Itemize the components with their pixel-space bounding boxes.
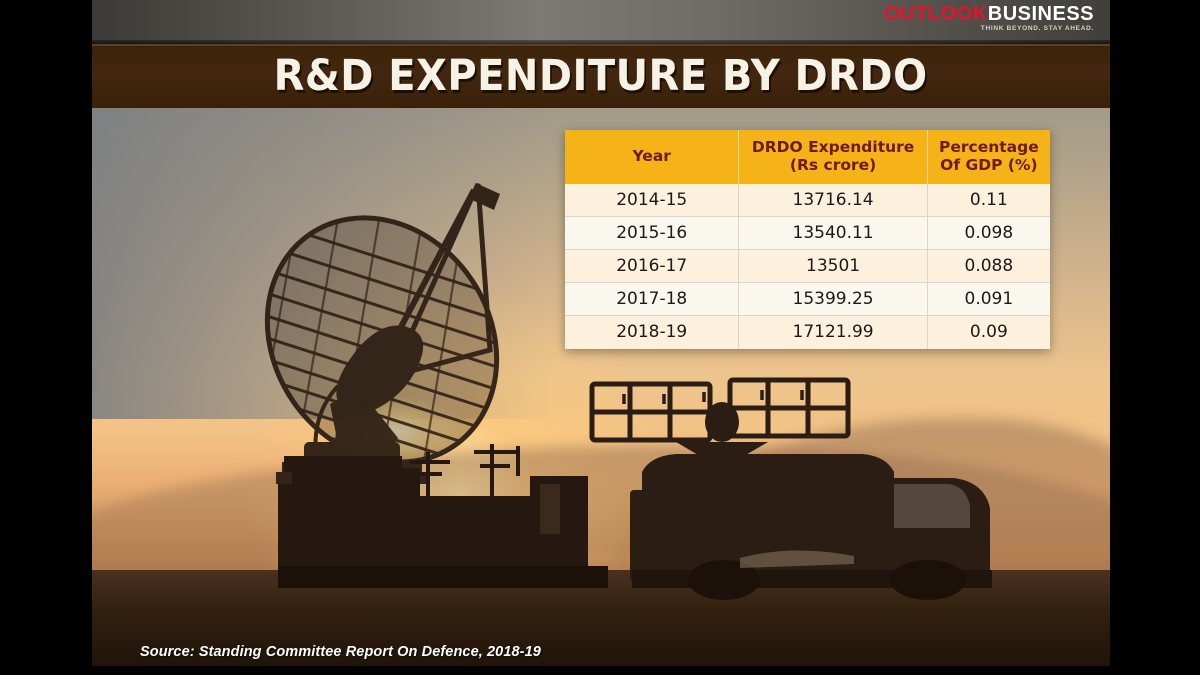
cell-year: 2018-19 <box>565 316 739 349</box>
header-line-1: DRDO Expenditure <box>752 138 914 156</box>
column-header-expenditure: DRDO Expenditure (Rs crore) <box>739 130 927 184</box>
cell-year: 2017-18 <box>565 283 739 316</box>
letterbox-bar-left <box>0 0 92 675</box>
letterbox-bar-right <box>1110 0 1200 675</box>
logo-outlook-text: OUTLOOK <box>884 3 988 25</box>
cell-year: 2014-15 <box>565 184 739 217</box>
data-table: Year DRDO Expenditure (Rs crore) Percent… <box>565 130 1050 349</box>
cell-year: 2015-16 <box>565 217 739 250</box>
page-title: R&D EXPENDITURE BY DRDO <box>274 51 928 101</box>
cell-year: 2016-17 <box>565 250 739 283</box>
header-line-2: Of GDP (%) <box>940 156 1037 174</box>
table-header-row: Year DRDO Expenditure (Rs crore) Percent… <box>565 130 1050 184</box>
cell-gdp-pct: 0.11 <box>927 184 1050 217</box>
table-head: Year DRDO Expenditure (Rs crore) Percent… <box>565 130 1050 184</box>
header-line-1: Year <box>633 147 671 165</box>
title-bar: R&D EXPENDITURE BY DRDO <box>92 44 1110 108</box>
brand-bar: OUTLOOKBUSINESS THINK BEYOND. STAY AHEAD… <box>92 0 1110 44</box>
table-row: 2015-16 13540.11 0.098 <box>565 217 1050 250</box>
source-text: Source: Standing Committee Report On Def… <box>140 644 541 660</box>
table-row: 2016-17 13501 0.088 <box>565 250 1050 283</box>
column-header-year: Year <box>565 130 739 184</box>
table-row: 2014-15 13716.14 0.11 <box>565 184 1050 217</box>
logo-tagline: THINK BEYOND. STAY AHEAD. <box>884 26 1094 33</box>
cell-gdp-pct: 0.098 <box>927 217 1050 250</box>
radar-equipment-shelter-silhouette <box>278 438 608 588</box>
table-row: 2017-18 15399.25 0.091 <box>565 283 1050 316</box>
logo-wordmark: OUTLOOKBUSINESS <box>884 4 1094 24</box>
logo-business-text: BUSINESS <box>988 3 1094 25</box>
source-bar: Source: Standing Committee Report On Def… <box>92 637 1110 666</box>
letterbox-bar-bottom <box>92 666 1110 675</box>
cell-expenditure: 17121.99 <box>739 316 927 349</box>
column-header-gdp-percentage: Percentage Of GDP (%) <box>927 130 1050 184</box>
cell-expenditure: 13540.11 <box>739 217 927 250</box>
cell-gdp-pct: 0.09 <box>927 316 1050 349</box>
table-row: 2018-19 17121.99 0.09 <box>565 316 1050 349</box>
cell-expenditure: 13501 <box>739 250 927 283</box>
table-body: 2014-15 13716.14 0.11 2015-16 13540.11 0… <box>565 184 1050 349</box>
drdo-expenditure-table: Year DRDO Expenditure (Rs crore) Percent… <box>565 130 1050 349</box>
header-line-1: Percentage <box>939 138 1039 156</box>
cell-expenditure: 15399.25 <box>739 283 927 316</box>
header-line-2: (Rs crore) <box>790 156 876 174</box>
cell-gdp-pct: 0.091 <box>927 283 1050 316</box>
outlook-business-logo: OUTLOOKBUSINESS THINK BEYOND. STAY AHEAD… <box>884 4 1094 33</box>
cell-expenditure: 13716.14 <box>739 184 927 217</box>
radar-truck-silhouette <box>572 372 1092 602</box>
cell-gdp-pct: 0.088 <box>927 250 1050 283</box>
